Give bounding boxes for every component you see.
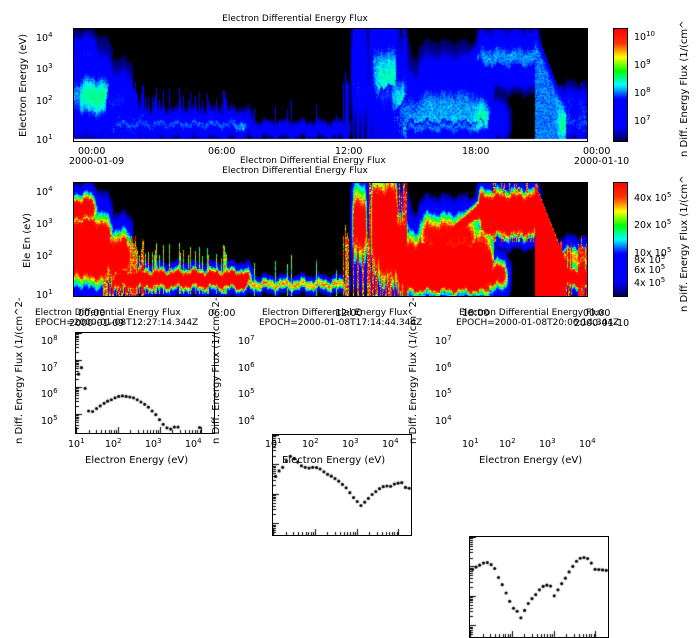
top-xtick-0600: 06:00 (208, 146, 235, 157)
spectrum-2-xlabel: Electron Energy (eV) (282, 455, 385, 466)
top-ytick-1: 101 (36, 133, 53, 146)
sp2-ytick-7: 107 (238, 334, 255, 347)
sp2-ytick-5: 105 (238, 387, 255, 400)
spectrum-1-plot (75, 332, 215, 434)
spectrum-1-title: Electron Differential Energy Flux (35, 308, 181, 318)
mid-cbar-tick-6: 6x 105 (634, 263, 665, 276)
top-ytick-3: 103 (36, 62, 53, 75)
top-panel-title: Electron Differential Energy Flux (0, 14, 590, 24)
top-ytick-2: 102 (36, 94, 53, 107)
spectrum-1-ylabel: n Diff. Energy Flux (1/(cm^2- (14, 297, 25, 444)
sp1-ytick-7: 107 (41, 361, 58, 374)
sp3-ytick-4: 104 (435, 414, 452, 427)
spectrum-3-xlabel: Electron Energy (eV) (479, 455, 582, 466)
mid-ytick-2: 102 (36, 249, 53, 262)
top-panel-xlabel: Electron Differential Energy Flux (240, 156, 386, 166)
sp3-ytick-7: 107 (435, 334, 452, 347)
spectrum-2-title: Electron Differential Energy Flux (262, 308, 408, 318)
middle-colorbar-label: n Diff. Energy Flux (1/(cm^ (679, 175, 690, 312)
middle-colorbar (613, 182, 628, 297)
figure-root: Electron Differential Energy Flux Electr… (0, 0, 697, 492)
top-xtick-1800: 18:00 (462, 146, 489, 157)
middle-spectrogram-plot (73, 182, 588, 297)
sp1-xtick-2: 102 (105, 437, 122, 450)
spectrum-1-xlabel: Electron Energy (eV) (85, 455, 188, 466)
sp1-xtick-3: 103 (145, 437, 162, 450)
top-cbar-tick-8: 108 (634, 86, 651, 99)
mid-cbar-tick-4: 4x 105 (634, 276, 665, 289)
top-cbar-tick-9: 109 (634, 58, 651, 71)
spectrum-3-plot (469, 536, 609, 638)
spectrum-2-ylabel: n Diff. Energy Flux (1/(cm^2- (211, 297, 222, 444)
sp2-xtick-4: 104 (382, 437, 399, 450)
mid-ytick-1: 101 (36, 288, 53, 301)
sp2-xtick-2: 102 (302, 437, 319, 450)
sp2-ytick-6: 106 (238, 361, 255, 374)
sp1-ytick-6: 106 (41, 387, 58, 400)
sp2-xtick-1: 101 (265, 437, 282, 450)
middle-panel-title: Electron Differential Energy Flux (0, 166, 590, 176)
sp3-xtick-3: 103 (539, 437, 556, 450)
mid-ytick-3: 103 (36, 217, 53, 230)
spectrum-3-title: Electron Differential Energy Flux (459, 308, 605, 318)
top-colorbar (613, 28, 628, 142)
top-cbar-tick-7: 107 (634, 114, 651, 127)
sp3-ytick-6: 106 (435, 361, 452, 374)
top-spectrogram-plot (73, 28, 588, 142)
spectrum-1-epoch: EPOCH=2000-01-08T12:27:14.344Z (35, 318, 198, 328)
middle-panel-ylabel: Ele En (eV) (22, 213, 33, 268)
sp3-ytick-5: 105 (435, 387, 452, 400)
mid-cbar-tick-40: 40x 105 (634, 191, 671, 204)
mid-ytick-4: 104 (36, 185, 53, 198)
sp1-ytick-5: 105 (41, 414, 58, 427)
top-colorbar-label: n Diff. Energy Flux (1/(cm^ (679, 20, 690, 157)
sp3-xtick-4: 104 (579, 437, 596, 450)
sp1-ytick-8: 108 (41, 334, 58, 347)
spectrum-2-epoch: EPOCH=2000-01-08T17:14:44.344Z (259, 318, 422, 328)
sp3-xtick-2: 102 (499, 437, 516, 450)
top-cbar-tick-10: 1010 (634, 30, 655, 43)
sp1-xtick-1: 101 (68, 437, 85, 450)
spectrum-3-ylabel: n Diff. Energy Flux (1/(cm^2- (408, 297, 419, 444)
spectrum-3-epoch: EPOCH=2000-01-08T20:06:14.344Z (456, 318, 619, 328)
top-panel-ylabel: Electron Energy (eV) (18, 34, 29, 137)
sp2-xtick-3: 103 (342, 437, 359, 450)
mid-cbar-tick-20: 20x 105 (634, 218, 671, 231)
sp1-xtick-4: 104 (185, 437, 202, 450)
top-ytick-4: 104 (36, 31, 53, 44)
sp2-ytick-4: 104 (238, 414, 255, 427)
sp3-xtick-1: 101 (462, 437, 479, 450)
